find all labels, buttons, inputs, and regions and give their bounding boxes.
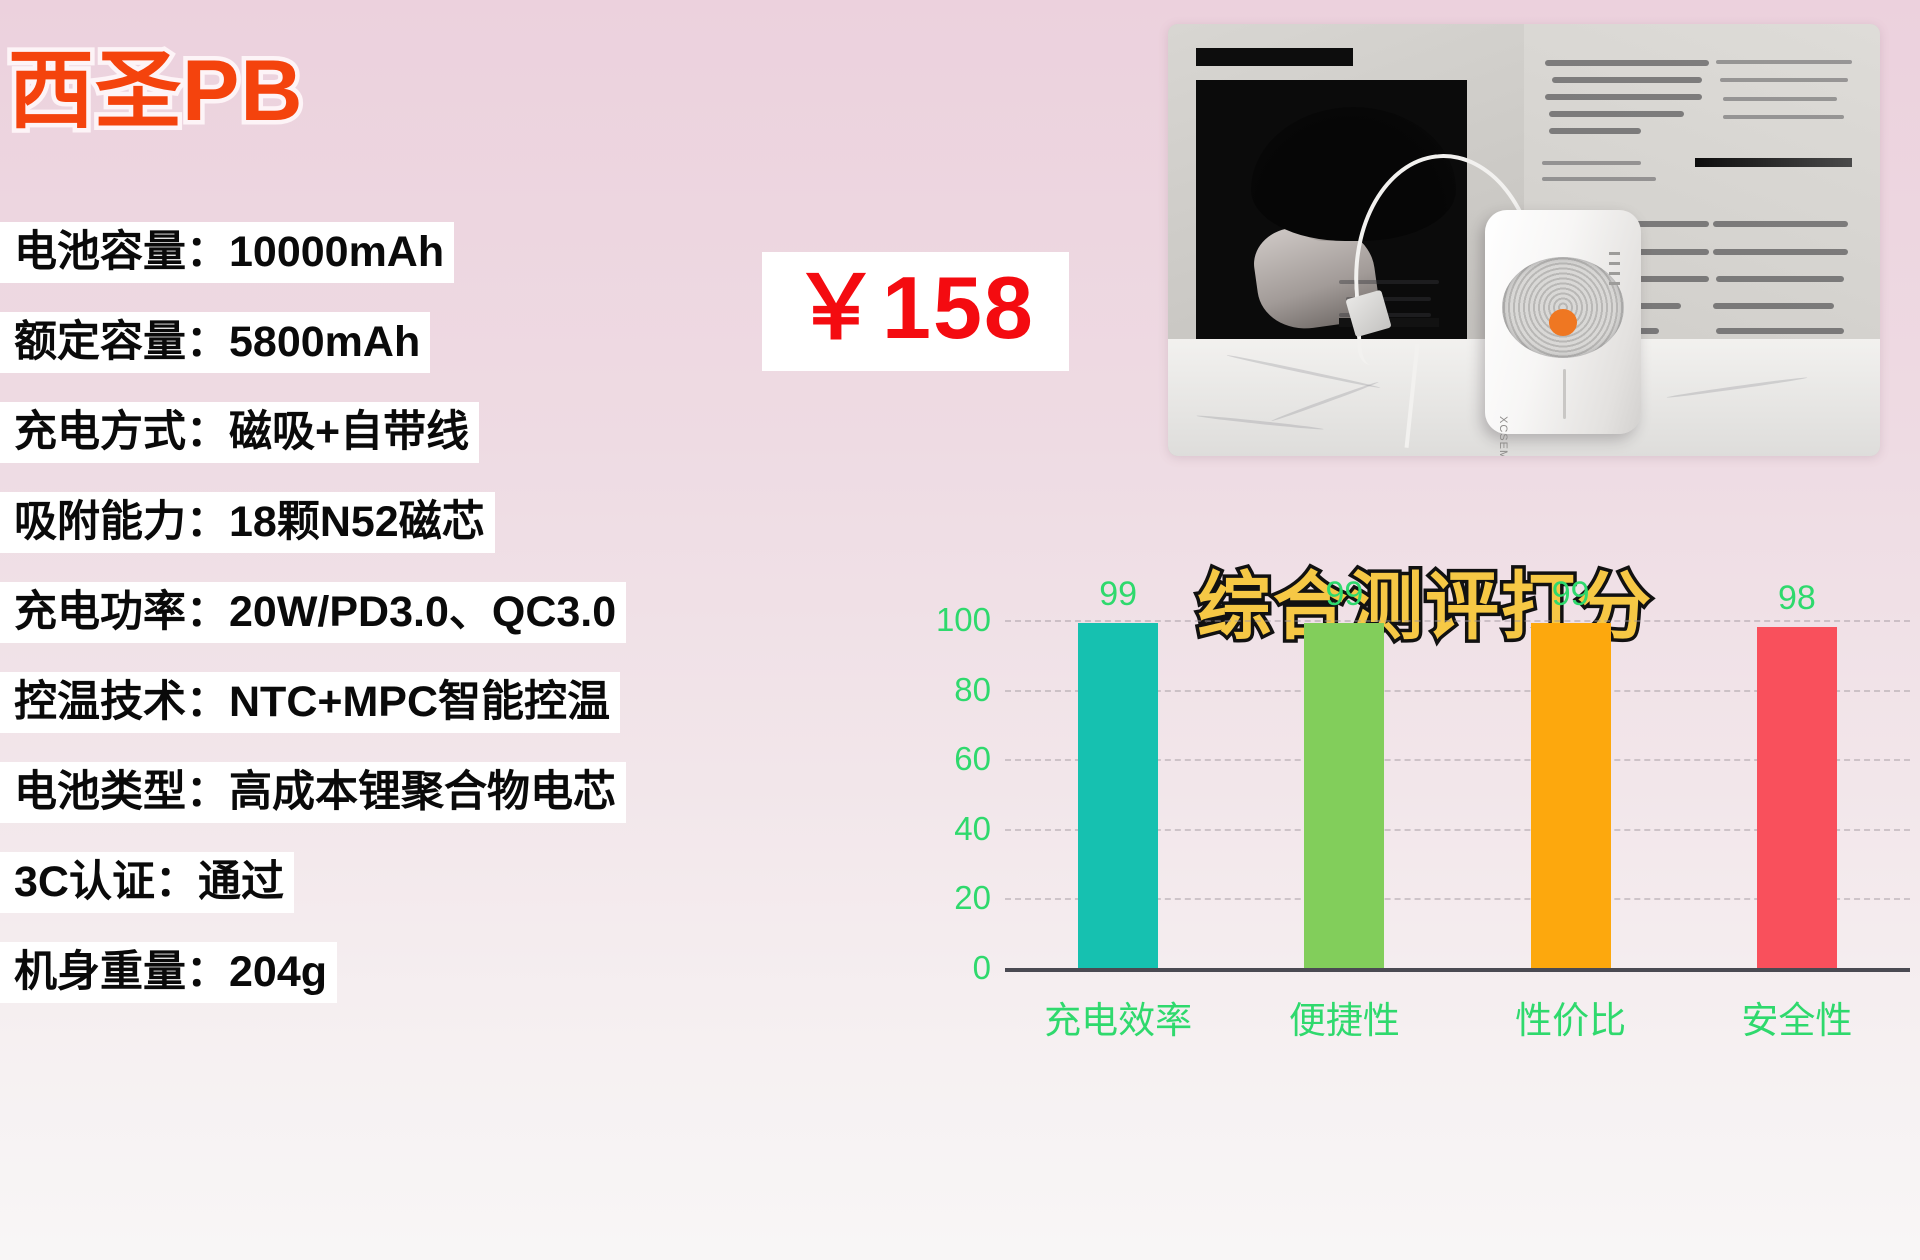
x-axis-tick-label: 充电效率	[1003, 990, 1233, 1044]
marble-vein	[1226, 353, 1380, 388]
book-text-line	[1545, 94, 1702, 100]
page-title: 西圣PB	[8, 48, 303, 134]
spec-text: 充电方式：磁吸+自带线	[0, 402, 479, 463]
list-item: 电池容量：10000mAh	[0, 208, 700, 298]
x-axis-tick-label: 性价比	[1456, 990, 1686, 1044]
book-text-line	[1723, 97, 1837, 101]
device-brand-label: XCSEM	[1497, 416, 1509, 456]
book-text-line	[1716, 276, 1844, 282]
magnet-center-dot-icon	[1549, 309, 1577, 336]
spec-text: 电池容量：10000mAh	[0, 222, 454, 283]
marble-vein	[1197, 414, 1325, 430]
battery-led-indicator-icon	[1609, 252, 1620, 288]
book-text-line	[1713, 303, 1834, 309]
marble-vein	[1667, 376, 1808, 399]
price-value: ￥158	[792, 260, 1035, 357]
score-bar-chart: 020406080100 99999998 充电效率便捷性性价比安全性	[860, 596, 1920, 1260]
book-black-bar-right	[1695, 158, 1852, 167]
book-text-line	[1545, 60, 1709, 66]
spec-text: 控温技术：NTC+MPC智能控温	[0, 672, 620, 733]
book-black-bar-top	[1196, 48, 1353, 66]
magnetic-pad-icon	[1502, 257, 1624, 358]
book-text-line	[1716, 60, 1851, 64]
x-axis-tick-label: 安全性	[1682, 990, 1912, 1044]
spec-text: 充电功率：20W/PD3.0、QC3.0	[0, 582, 626, 643]
product-photo: XCSEM	[1168, 24, 1880, 456]
book-text-line	[1720, 78, 1848, 82]
book-text-line	[1542, 177, 1656, 181]
list-item: 吸附能力：18颗N52磁芯	[0, 478, 700, 568]
book-text-line	[1713, 249, 1848, 255]
spec-text: 3C认证：通过	[0, 852, 294, 913]
list-item: 机身重量：204g	[0, 928, 700, 1018]
price-badge: ￥158	[762, 252, 1069, 371]
list-item: 充电功率：20W/PD3.0、QC3.0	[0, 568, 700, 658]
poster-root: 西圣PB 电池容量：10000mAh 额定容量：5800mAh 充电方式：磁吸+…	[0, 0, 1920, 1260]
list-item: 3C认证：通过	[0, 838, 700, 928]
book-text-line	[1552, 77, 1702, 83]
spec-text: 电池类型：高成本锂聚合物电芯	[0, 762, 626, 823]
spec-text: 机身重量：204g	[0, 942, 337, 1003]
book-text-line	[1549, 128, 1642, 134]
spec-text: 吸附能力：18颗N52磁芯	[0, 492, 495, 553]
spec-text: 额定容量：5800mAh	[0, 312, 430, 373]
list-item: 额定容量：5800mAh	[0, 298, 700, 388]
cable-slot	[1563, 369, 1566, 418]
list-item: 充电方式：磁吸+自带线	[0, 388, 700, 478]
list-item: 电池类型：高成本锂聚合物电芯	[0, 748, 700, 838]
x-axis: 充电效率便捷性性价比安全性	[860, 596, 1920, 1260]
x-axis-tick-label: 便捷性	[1229, 990, 1459, 1044]
book-text-line	[1716, 328, 1844, 334]
book-text-line	[1723, 115, 1844, 119]
book-text-line	[1542, 161, 1642, 165]
spec-list: 电池容量：10000mAh 额定容量：5800mAh 充电方式：磁吸+自带线 吸…	[0, 208, 700, 1018]
book-text-line	[1713, 221, 1848, 227]
list-item: 控温技术：NTC+MPC智能控温	[0, 658, 700, 748]
book-text-line	[1549, 111, 1684, 117]
power-bank-device: XCSEM	[1485, 210, 1642, 435]
marble-vein	[1271, 381, 1379, 423]
